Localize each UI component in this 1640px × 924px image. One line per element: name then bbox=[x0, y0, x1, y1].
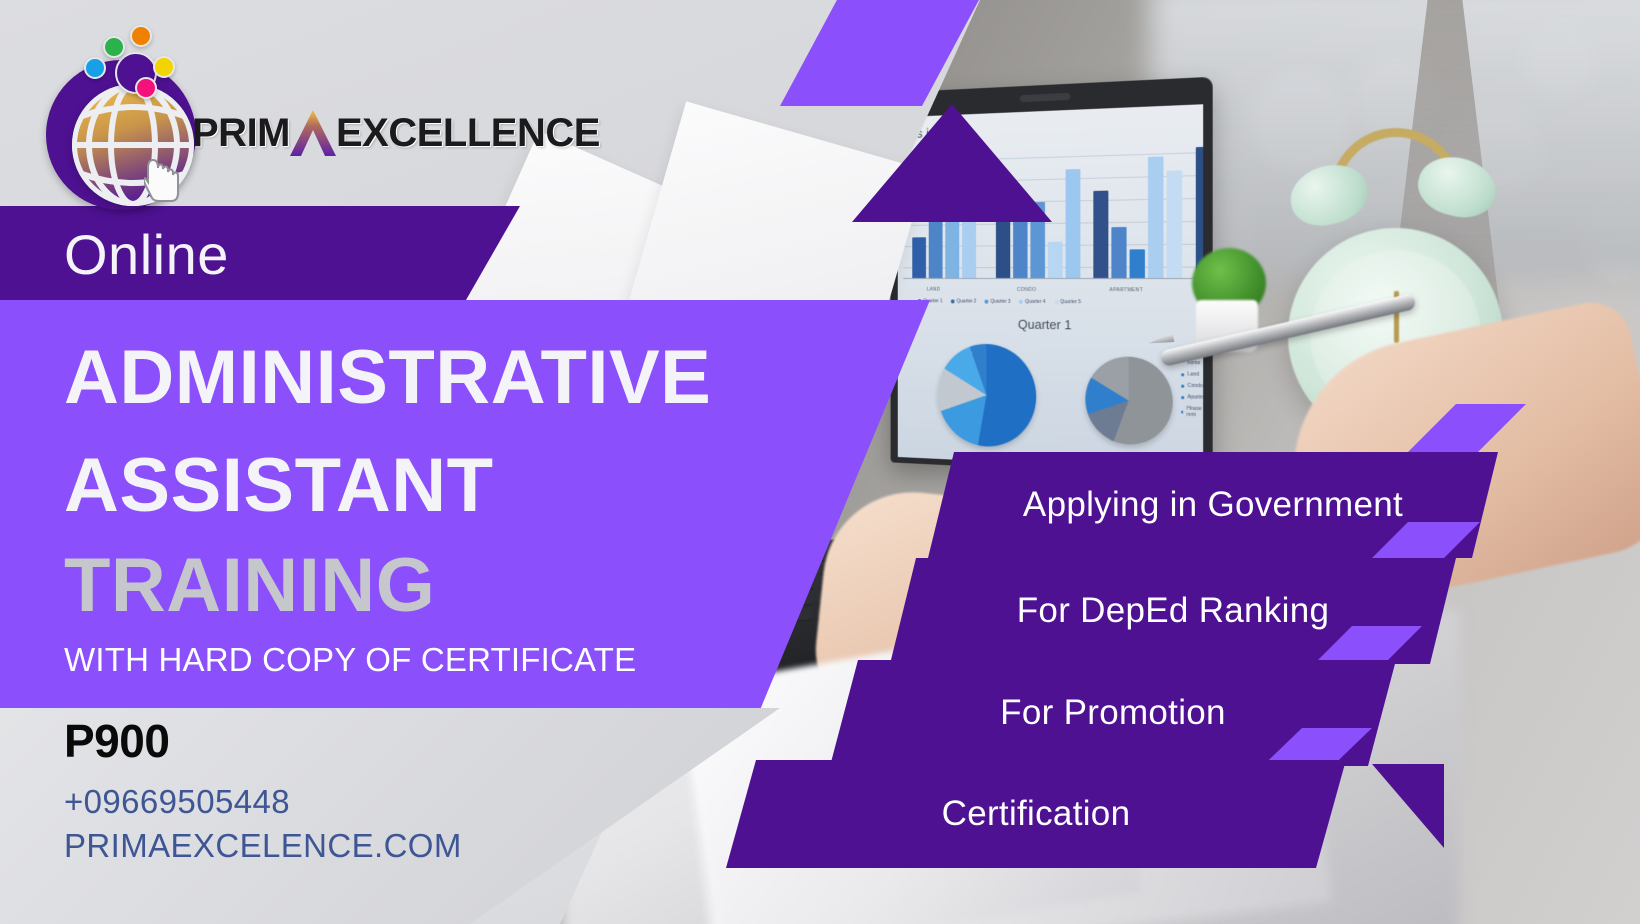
screen-section-title: Quarter 1 bbox=[898, 316, 1203, 335]
benefit-bar-4-label: Certification bbox=[942, 794, 1131, 834]
wordmark-chevron-icon bbox=[290, 110, 336, 156]
screen-pie-legend: Town home Land Condo Apartment House for… bbox=[1181, 354, 1203, 424]
headline-line-1: ADMINISTRATIVE bbox=[64, 340, 711, 416]
wordmark-prim: PRIM bbox=[192, 111, 290, 156]
screen-chart-legend: Quarter 1 Quarter 2 Quarter 3 Quarter 4 … bbox=[918, 298, 1081, 305]
wordmark-excellence: EXCELLENCE bbox=[336, 111, 600, 156]
webcam-icon bbox=[1020, 93, 1071, 102]
headline-line-3: TRAINING bbox=[64, 548, 435, 624]
logo-dot-yellow bbox=[153, 56, 175, 78]
pie-legend-item: House for rent bbox=[1187, 405, 1204, 418]
legend-item: Quarter 5 bbox=[1060, 299, 1081, 305]
screen-pie-chart-1 bbox=[938, 343, 1036, 448]
headline-subtitle: WITH HARD COPY OF CERTIFICATE bbox=[64, 641, 636, 679]
phone-number[interactable]: +09669505448 bbox=[64, 783, 290, 821]
benefit-bar-2-label: For DepEd Ranking bbox=[1017, 591, 1329, 631]
legend-item: Quarter 2 bbox=[957, 299, 977, 305]
benefit-bar-1-label: Applying in Government bbox=[1023, 485, 1403, 525]
legend-item: Quarter 4 bbox=[1025, 299, 1045, 305]
headline-line-2: ASSISTANT bbox=[64, 448, 494, 524]
pie-legend-item: Apartment bbox=[1187, 394, 1203, 401]
logo-dot-pink bbox=[135, 77, 157, 99]
pie-legend-item: Condo bbox=[1187, 383, 1202, 390]
cursor-hand-icon bbox=[144, 158, 182, 202]
logo-dot-green bbox=[103, 36, 125, 58]
logo-dot-orange bbox=[130, 25, 152, 47]
price-label: P900 bbox=[64, 714, 169, 768]
screen-pie-chart-2 bbox=[1085, 356, 1172, 447]
brand-logo[interactable]: PRIM EXCELLENCE bbox=[22, 12, 522, 192]
benefit-bar-3-label: For Promotion bbox=[1000, 693, 1226, 733]
brand-wordmark: PRIM EXCELLENCE bbox=[192, 104, 600, 162]
pie-legend-item: Land bbox=[1187, 371, 1199, 378]
benefit-bar-4-body: Certification bbox=[726, 760, 1346, 868]
eyebrow-label: Online bbox=[64, 222, 229, 287]
website-url[interactable]: PRIMAEXCELENCE.COM bbox=[64, 827, 462, 865]
legend-item: Quarter 3 bbox=[990, 299, 1010, 305]
poster-canvas: ss income LAND bbox=[0, 0, 1640, 924]
logo-dot-blue bbox=[84, 57, 106, 79]
